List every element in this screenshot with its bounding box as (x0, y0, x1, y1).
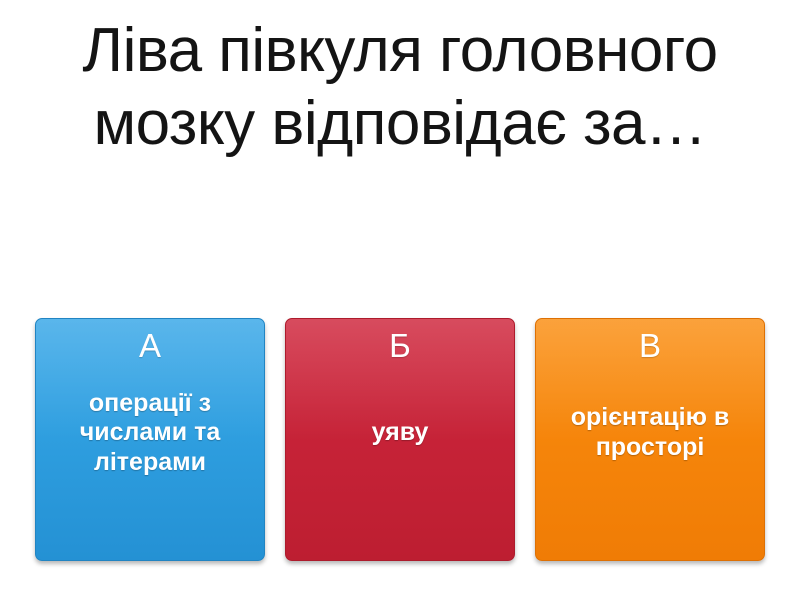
answer-option-c[interactable]: В орієнтацію в просторі (535, 318, 765, 561)
answer-text-a: операції з числами та літерами (48, 370, 252, 548)
question-area: Ліва півкуля головного мозку відповідає … (0, 0, 800, 160)
answer-option-a[interactable]: А операції з числами та літерами (35, 318, 265, 561)
quiz-screen: Ліва півкуля головного мозку відповідає … (0, 0, 800, 600)
answer-text-b: уяву (298, 370, 502, 548)
answer-options-list: А операції з числами та літерами Б уяву … (0, 318, 800, 568)
question-text: Ліва півкуля головного мозку відповідає … (30, 14, 770, 160)
answer-letter-b: Б (389, 329, 411, 364)
answer-text-c: орієнтацію в просторі (548, 370, 752, 548)
answer-option-b[interactable]: Б уяву (285, 318, 515, 561)
answer-letter-a: А (139, 329, 161, 364)
answer-letter-c: В (639, 329, 661, 364)
